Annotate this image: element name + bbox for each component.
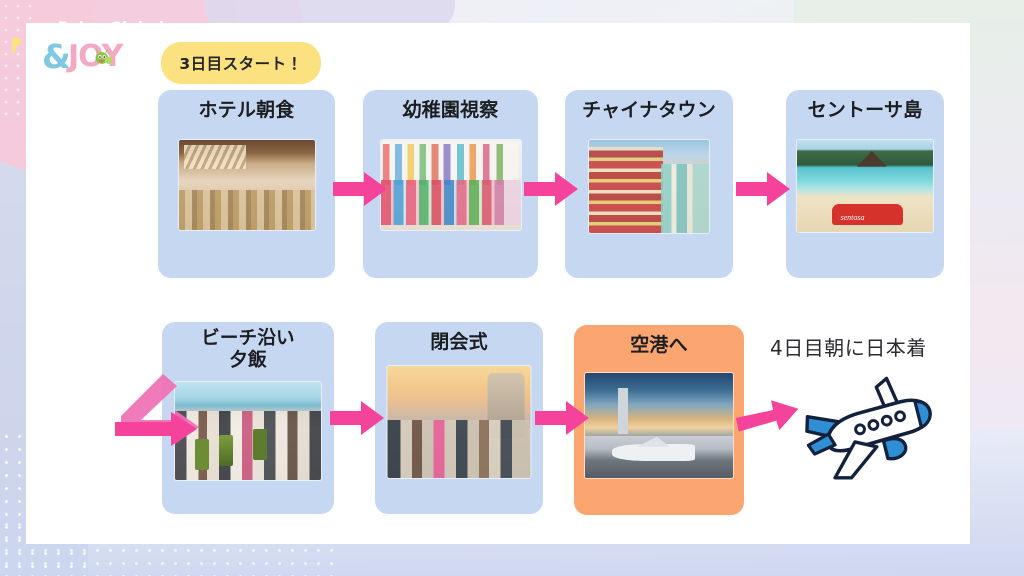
arrow-row1-1to2 — [333, 168, 389, 210]
slide-root: Enjoy Global & JOY 3日目スタート！ ホテル朝食 — [0, 0, 1024, 576]
sentosa-sign-label: sentosa — [841, 213, 865, 222]
card-title-line2: 夕飯 — [162, 350, 334, 372]
brand-tagline: Enjoy Global — [36, 20, 186, 36]
callout-tail — [12, 38, 28, 55]
card-title-line1: ビーチ沿い — [162, 328, 334, 350]
ending-text: 4日目朝に日本着 — [770, 332, 980, 361]
callout-text: 3日目スタート！ — [179, 52, 302, 74]
card-closing-ceremony[interactable]: 閉会式 — [375, 322, 543, 514]
arrow-row2-2to3 — [535, 397, 591, 439]
caterpillar-icon — [94, 50, 116, 66]
card-title: チャイナタウン — [565, 99, 733, 121]
hotel-breakfast-photo — [179, 140, 315, 230]
airport-plane-shape — [612, 444, 695, 461]
card-hotel-breakfast[interactable]: ホテル朝食 — [158, 90, 335, 278]
card-title: セントーサ島 — [786, 99, 944, 121]
card-sentosa[interactable]: セントーサ島 sentosa — [786, 90, 944, 278]
arrow-row2-1to2 — [330, 397, 386, 439]
chinatown-photo — [589, 140, 709, 233]
arrow-wrap-row1-to-row2 — [115, 372, 201, 450]
card-title: 幼稚園視察 — [363, 99, 538, 121]
airplane-icon — [795, 372, 945, 492]
card-title: ビーチ沿い 夕飯 — [162, 328, 334, 372]
arrow-row1-3to4 — [736, 168, 792, 210]
sentosa-beach-photo: sentosa — [797, 140, 933, 232]
card-kindergarten[interactable]: 幼稚園視察 — [363, 90, 538, 278]
card-title: 空港へ — [574, 334, 744, 356]
airport-photo — [585, 373, 733, 478]
card-title: 閉会式 — [375, 331, 543, 353]
callout-bubble: 3日目スタート！ — [161, 42, 321, 84]
arrow-row1-2to3 — [524, 168, 580, 210]
kindergarten-photo — [381, 140, 521, 230]
card-title: ホテル朝食 — [158, 99, 335, 121]
brand-ampersand: & — [42, 40, 71, 73]
card-chinatown[interactable]: チャイナタウン — [565, 90, 733, 278]
closing-ceremony-photo — [388, 366, 531, 478]
card-to-airport[interactable]: 空港へ — [574, 325, 744, 515]
arrow-row2-3-to-ending — [736, 385, 802, 435]
